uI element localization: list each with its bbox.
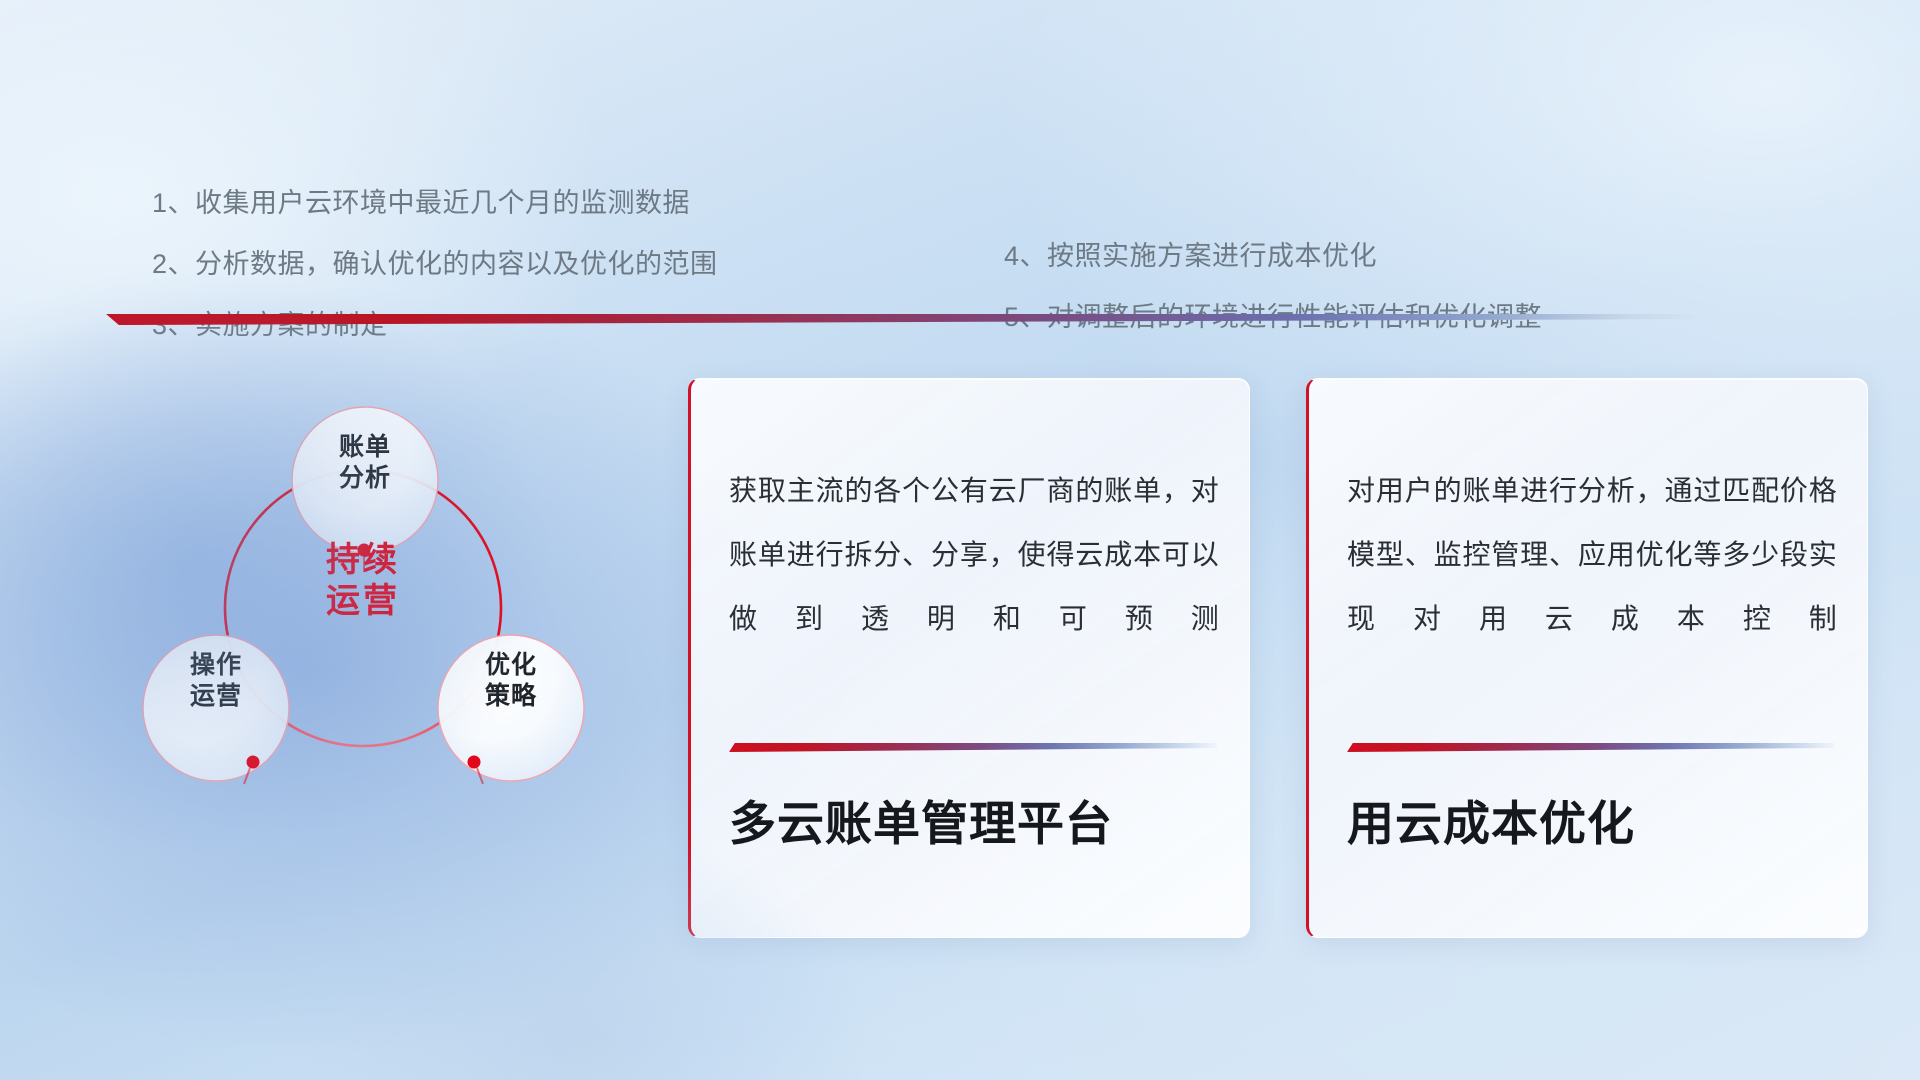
lobe-label-line: 优化 [451, 650, 571, 681]
feature-card-cloud-cost-optimization[interactable]: 对用户的账单进行分析，通过匹配价格模型、监控管理、应用优化等多少段实现对用云成本… [1306, 378, 1868, 938]
node-dot-right [468, 756, 481, 769]
lobe-label-line: 账单 [305, 432, 425, 463]
card-title: 多云账单管理平台 [729, 785, 1113, 854]
lobe-label-line: 操作 [156, 650, 276, 681]
slide-canvas: 1、收集用户云环境中最近几个月的监测数据 2、分析数据，确认优化的内容以及优化的… [0, 0, 1920, 1080]
lobe-label-line: 运营 [156, 681, 276, 712]
center-label-line: 持续 [283, 540, 443, 581]
card-divider-rule [729, 743, 1217, 752]
card-divider-rule [1347, 743, 1835, 752]
lobe-label-line: 分析 [305, 463, 425, 494]
node-dot-left [247, 756, 260, 769]
continuous-operation-diagram: 账单 分析 操作 运营 优化 策略 持续 运营 [88, 360, 608, 880]
step-item: 4、按照实施方案进行成本优化 [1004, 243, 1542, 270]
step-item: 1、收集用户云环境中最近几个月的监测数据 [152, 190, 718, 217]
diagram-center-label: 持续 运营 [283, 540, 443, 622]
lobe-label-billing-analysis: 账单 分析 [305, 432, 425, 493]
lobe-label-optimization-strategy: 优化 策略 [451, 650, 571, 711]
step-item: 2、分析数据，确认优化的内容以及优化的范围 [152, 251, 718, 278]
lobe-label-operations: 操作 运营 [156, 650, 276, 711]
card-body-text: 对用户的账单进行分析，通过匹配价格模型、监控管理、应用优化等多少段实现对用云成本… [1347, 459, 1837, 650]
center-label-line: 运营 [283, 581, 443, 622]
lobe-label-line: 策略 [451, 681, 571, 712]
feature-card-multicloud-billing[interactable]: 获取主流的各个公有云厂商的账单，对账单进行拆分、分享，使得云成本可以做到透明和可… [688, 378, 1250, 938]
card-title: 用云成本优化 [1347, 785, 1635, 854]
card-body-text: 获取主流的各个公有云厂商的账单，对账单进行拆分、分享，使得云成本可以做到透明和可… [729, 459, 1219, 650]
